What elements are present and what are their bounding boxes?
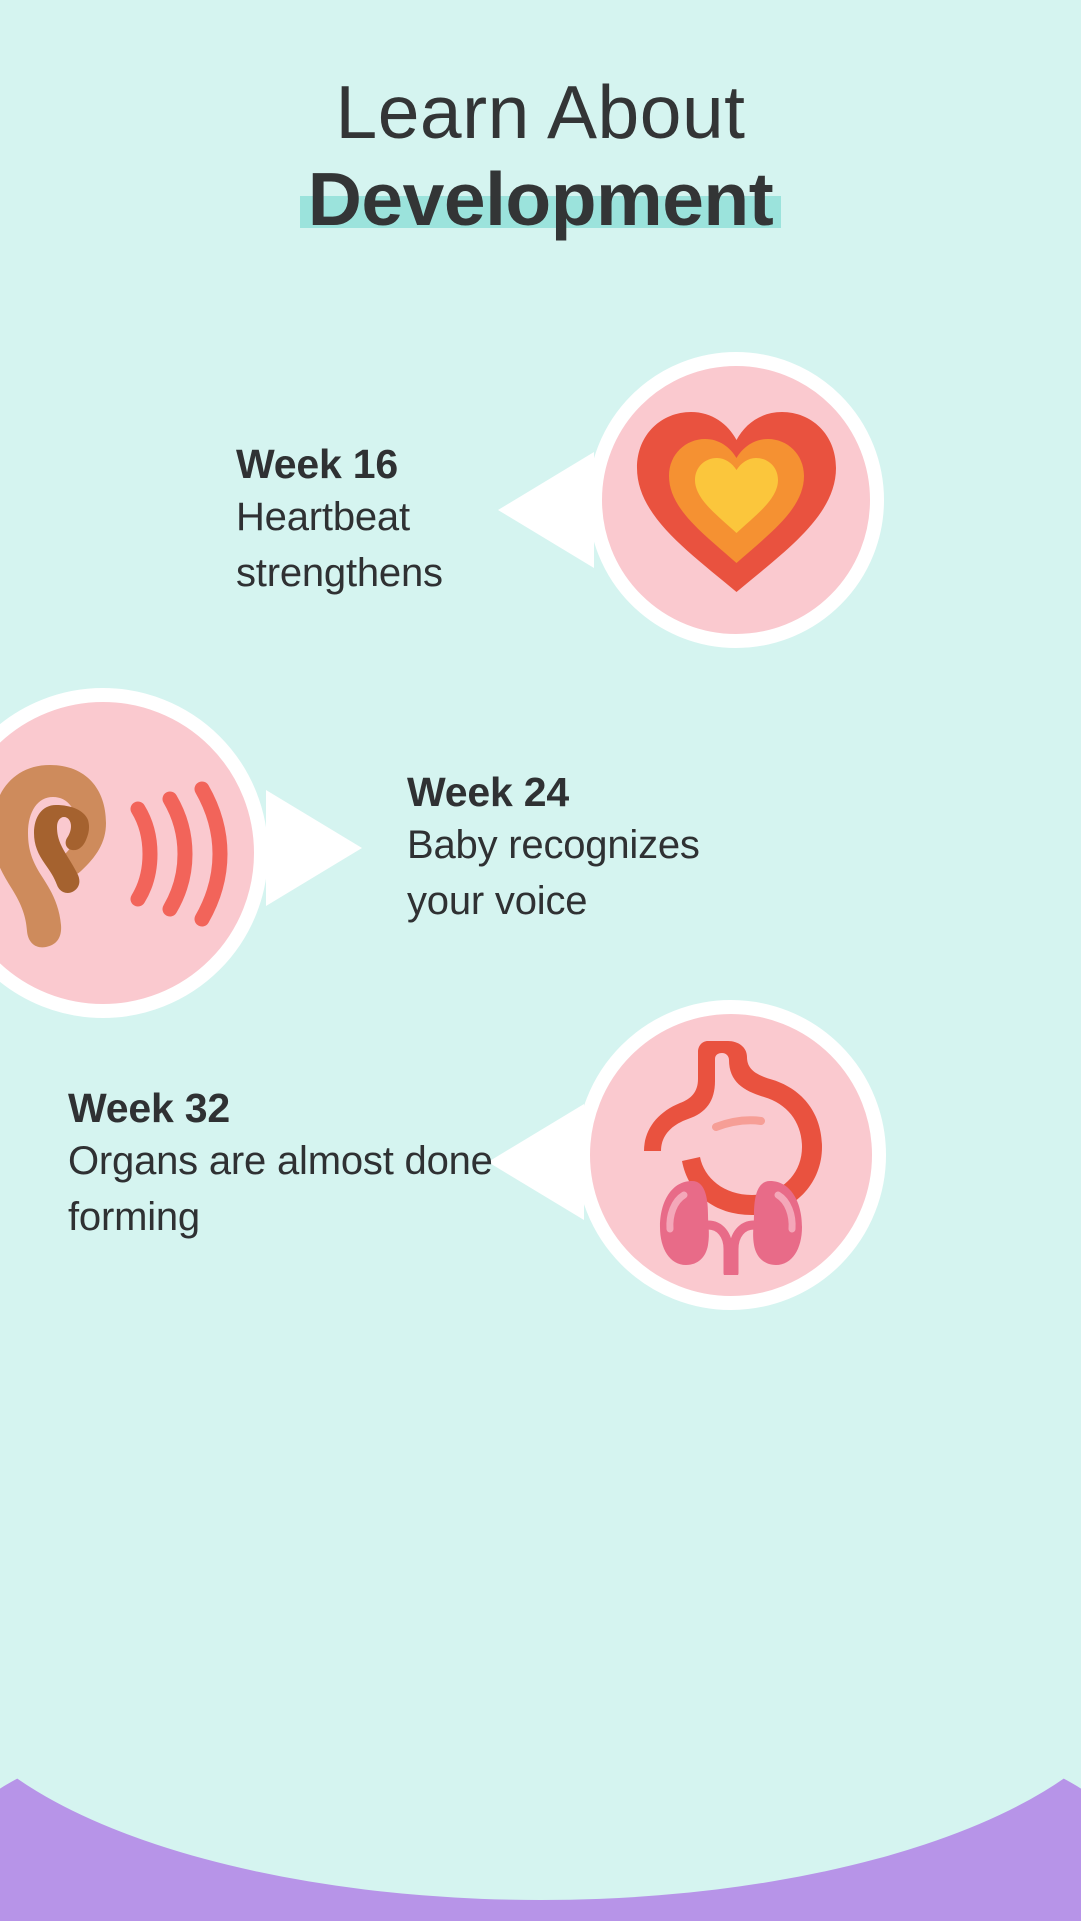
milestone-week-label: Week 32 bbox=[68, 1082, 498, 1134]
milestone-week-label: Week 16 bbox=[236, 438, 536, 490]
heart-icon bbox=[602, 366, 870, 634]
milestone-description: Baby recognizes your voice bbox=[407, 818, 777, 928]
page-title: Learn About Development bbox=[0, 72, 1081, 240]
milestone-text-week24: Week 24 Baby recognizes your voice bbox=[407, 766, 777, 929]
bottom-wave-mint bbox=[0, 1430, 1081, 1900]
title-line-2-wrapper: Development bbox=[308, 159, 773, 240]
milestone-week-label: Week 24 bbox=[407, 766, 777, 818]
milestone-bubble-ear[interactable] bbox=[0, 688, 268, 1018]
bubble-tail-ear bbox=[266, 790, 362, 906]
stomach-kidneys-icon bbox=[590, 1014, 872, 1296]
bubble-tail-organs bbox=[488, 1104, 584, 1220]
milestone-text-week16: Week 16 Heartbeat strengthens bbox=[236, 438, 536, 601]
milestone-description: Organs are almost done forming bbox=[68, 1134, 498, 1244]
title-line-2: Development bbox=[308, 159, 773, 240]
milestone-bubble-heart[interactable] bbox=[588, 352, 884, 648]
development-infographic: Learn About Development Week 16 Heartbea… bbox=[0, 0, 1081, 1921]
milestone-bubble-organs[interactable] bbox=[576, 1000, 886, 1310]
milestone-text-week32: Week 32 Organs are almost done forming bbox=[68, 1082, 498, 1245]
milestone-description: Heartbeat strengthens bbox=[236, 490, 536, 600]
title-line-1: Learn About bbox=[0, 72, 1081, 153]
ear-sound-icon bbox=[0, 702, 254, 1004]
